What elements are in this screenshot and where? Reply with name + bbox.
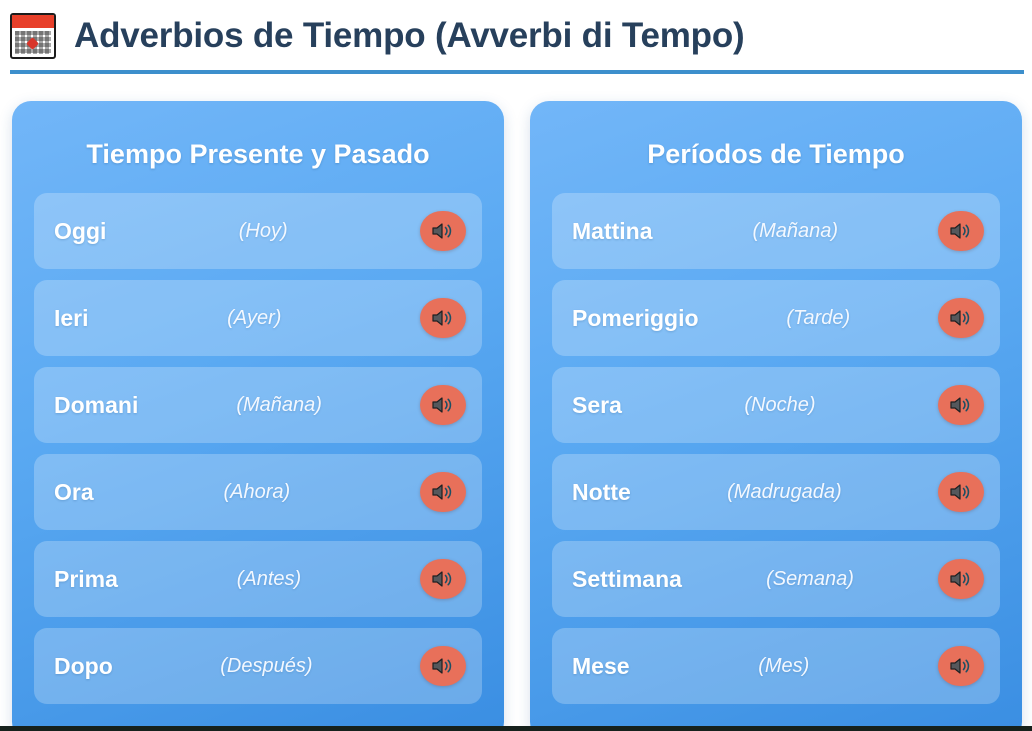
speaker-icon-button[interactable] [420,472,466,512]
word-row[interactable]: Ora (Ahora) [34,454,482,530]
word-italian: Ora [54,479,94,506]
speaker-icon-button[interactable] [938,385,984,425]
word-spanish: (Noche) [734,394,825,417]
word-spanish: (Mañana) [226,394,332,417]
word-italian: Ieri [54,305,89,332]
speaker-icon-button[interactable] [938,211,984,251]
card-tiempo-presente-y-pasado: Tiempo Presente y Pasado Oggi (Hoy) Ieri… [12,101,504,731]
speaker-icon [949,395,973,415]
word-row[interactable]: Ieri (Ayer) [34,280,482,356]
speaker-icon-button[interactable] [938,298,984,338]
word-row[interactable]: Mattina (Mañana) [552,193,1000,269]
word-row[interactable]: Prima (Antes) [34,541,482,617]
viewport-bottom-strip [0,726,1032,731]
word-row[interactable]: Domani (Mañana) [34,367,482,443]
word-italian: Notte [572,479,631,506]
word-italian: Dopo [54,653,113,680]
speaker-icon [949,308,973,328]
speaker-icon [431,395,455,415]
word-spanish: (Después) [210,655,322,678]
calendar-icon [10,13,56,59]
word-spanish: (Mañana) [742,220,848,243]
speaker-icon [949,656,973,676]
word-spanish: (Antes) [227,568,311,591]
card-periodos-de-tiempo: Períodos de Tiempo Mattina (Mañana) Pome… [530,101,1022,731]
word-italian: Prima [54,566,118,593]
speaker-icon-button[interactable] [420,559,466,599]
word-italian: Mese [572,653,630,680]
speaker-icon [949,221,973,241]
speaker-icon-button[interactable] [938,559,984,599]
word-italian: Domani [54,392,138,419]
word-spanish: (Mes) [748,655,819,678]
word-spanish: (Semana) [756,568,864,591]
word-row[interactable]: Sera (Noche) [552,367,1000,443]
speaker-icon [431,308,455,328]
word-row[interactable]: Settimana (Semana) [552,541,1000,617]
word-spanish: (Madrugada) [717,481,852,504]
word-italian: Sera [572,392,622,419]
word-row[interactable]: Mese (Mes) [552,628,1000,704]
speaker-icon [431,221,455,241]
columns-container: Tiempo Presente y Pasado Oggi (Hoy) Ieri… [0,74,1032,731]
word-spanish: (Tarde) [776,307,860,330]
word-spanish: (Hoy) [229,220,298,243]
speaker-icon-button[interactable] [420,211,466,251]
word-italian: Mattina [572,218,653,245]
word-spanish: (Ayer) [217,307,291,330]
word-italian: Pomeriggio [572,305,699,332]
word-italian: Oggi [54,218,106,245]
speaker-icon [431,482,455,502]
speaker-icon [431,569,455,589]
word-row[interactable]: Oggi (Hoy) [34,193,482,269]
card-title: Tiempo Presente y Pasado [34,139,482,170]
speaker-icon [431,656,455,676]
page-title: Adverbios de Tiempo (Avverbi di Tempo) [74,17,744,56]
speaker-icon-button[interactable] [938,646,984,686]
word-row[interactable]: Pomeriggio (Tarde) [552,280,1000,356]
word-row[interactable]: Notte (Madrugada) [552,454,1000,530]
page-header: Adverbios de Tiempo (Avverbi di Tempo) [0,0,1032,66]
speaker-icon-button[interactable] [938,472,984,512]
speaker-icon [949,482,973,502]
word-italian: Settimana [572,566,682,593]
card-title: Períodos de Tiempo [552,139,1000,170]
speaker-icon-button[interactable] [420,385,466,425]
speaker-icon [949,569,973,589]
word-row[interactable]: Dopo (Después) [34,628,482,704]
word-spanish: (Ahora) [213,481,300,504]
speaker-icon-button[interactable] [420,646,466,686]
speaker-icon-button[interactable] [420,298,466,338]
